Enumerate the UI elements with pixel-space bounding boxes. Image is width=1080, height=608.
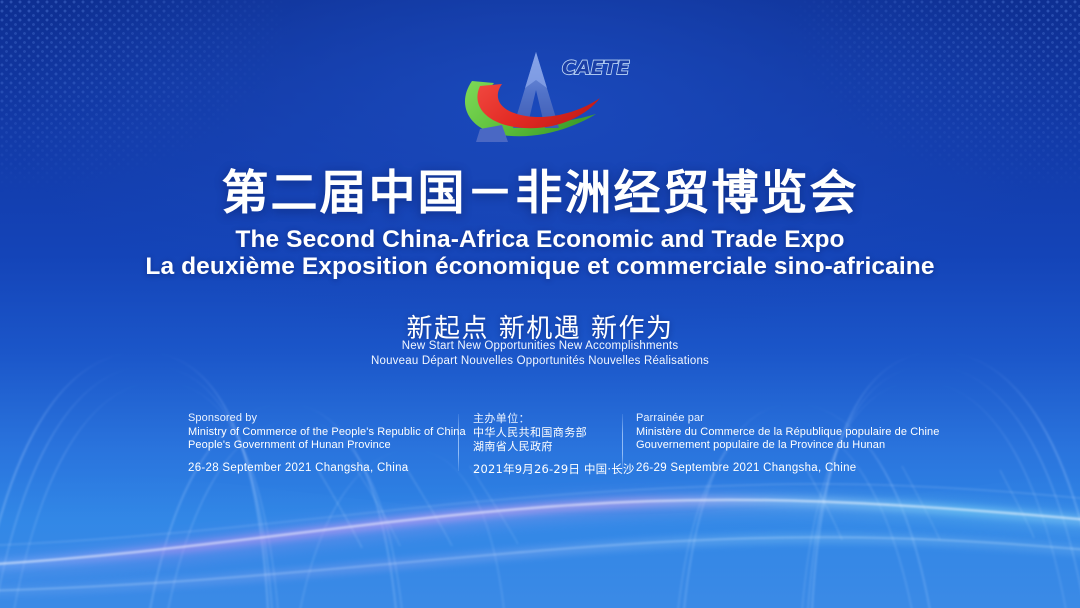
slogan-english: New Start New Opportunities New Accompli… [0, 340, 1080, 352]
slogan-french: Nouveau Départ Nouvelles Opportunités No… [0, 355, 1080, 367]
bottom-sheen [0, 470, 1080, 608]
sponsor-fr-lead: Parrainée par [636, 412, 923, 426]
sponsor-cn-org2: 湖南省人民政府 [473, 440, 622, 454]
sponsor-en-lead: Sponsored by [188, 412, 458, 426]
sponsor-cn-org1: 中华人民共和国商务部 [473, 426, 622, 440]
title-english: The Second China-Africa Economic and Tra… [0, 226, 1080, 254]
wave-upper [0, 484, 1080, 546]
ribbon-group-left [0, 352, 504, 608]
title-chinese: 第二届中国－非洲经贸博览会 [0, 166, 1080, 221]
sponsor-en-org1: Ministry of Commerce of the People's Rep… [188, 426, 458, 440]
sponsor-fr-date: 26-29 Septembre 2021 Changsha, Chine [636, 461, 923, 475]
sponsor-en-org2: People's Government of Hunan Province [188, 439, 458, 453]
sponsor-column-french: Parrainée par Ministère du Commerce de l… [623, 412, 923, 475]
title-french: La deuxième Exposition économique et com… [0, 253, 1080, 281]
wave-glow [0, 501, 1080, 566]
sponsor-column-chinese: 主办单位： 中华人民共和国商务部 湖南省人民政府 2021年9月26-29日 中… [459, 412, 622, 476]
sponsor-en-date: 26-28 September 2021 Changsha, China [188, 461, 458, 475]
sponsor-fr-org1: Ministère du Commerce de la République p… [636, 426, 923, 440]
sponsor-column-english: Sponsored by Ministry of Commerce of the… [188, 412, 458, 475]
wave-halo [0, 503, 1080, 568]
ribbon-group-right [678, 352, 1080, 608]
wave-secondary-core [0, 537, 1080, 591]
logo-wordmark: CAETE [562, 57, 630, 79]
sponsor-cn-date: 2021年9月26-29日 中国·长沙 [473, 462, 622, 476]
sponsor-cn-lead: 主办单位： [473, 412, 622, 426]
sponsor-block: Sponsored by Ministry of Commerce of the… [188, 412, 923, 476]
sponsor-fr-org2: Gouvernement populaire de la Province du… [636, 439, 923, 453]
wave-secondary-glow [0, 538, 1080, 592]
wave-core [0, 500, 1080, 565]
caete-logo: CAETE [0, 34, 1080, 149]
caete-logo-mark: CAETE [450, 34, 630, 149]
poster-canvas: CAETE 第二届中国－非洲经贸博览会 The Second China-Afr… [0, 0, 1080, 608]
